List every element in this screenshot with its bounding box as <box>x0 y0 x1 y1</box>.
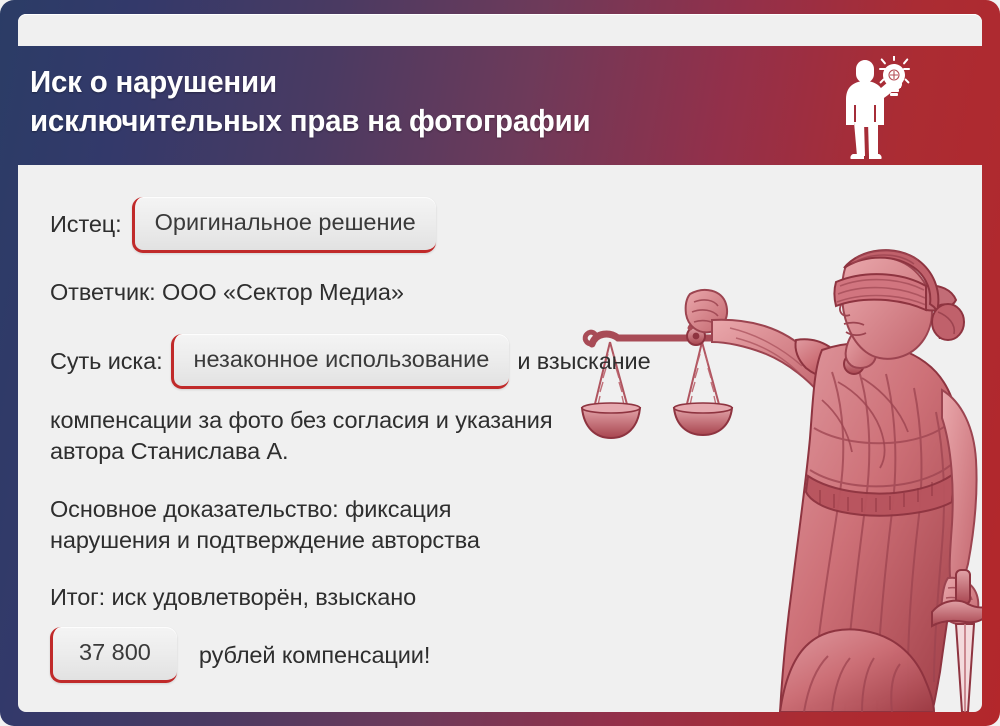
spacer <box>50 613 982 627</box>
spacer <box>50 255 982 277</box>
amount-tail: рублей компенсации! <box>199 640 430 671</box>
claim-badge[interactable]: незаконное использование <box>171 334 510 390</box>
claim-continuation: компенсации за фото без согласия и указа… <box>50 405 982 468</box>
content-panel: Истец: Оригинальное решение Ответчик: ОО… <box>18 165 982 712</box>
plaintiff-label: Истец: <box>50 209 122 240</box>
card-top-strip <box>18 14 982 46</box>
infographic-card: Иск о нарушении исключительных прав на ф… <box>0 0 1000 726</box>
spacer <box>50 312 982 334</box>
claim-tail: и взыскание <box>517 346 650 377</box>
plaintiff-row: Истец: Оригинальное решение <box>50 197 982 253</box>
evidence-line: Основное доказательство: фиксация наруше… <box>50 494 982 557</box>
case-summary: Истец: Оригинальное решение Ответчик: ОО… <box>50 197 982 685</box>
spacer <box>50 468 982 494</box>
claim-row: Суть иска: незаконное использование и вз… <box>50 334 982 390</box>
idea-lightbulb-person-icon <box>828 56 920 161</box>
amount-badge[interactable]: 37 800 <box>50 627 177 683</box>
spacer <box>50 391 982 405</box>
page-title: Иск о нарушении исключительных прав на ф… <box>30 62 590 140</box>
header-band: Иск о нарушении исключительных прав на ф… <box>0 46 1000 165</box>
amount-row: 37 800 рублей компенсации! <box>50 627 982 683</box>
claim-label: Суть иска: <box>50 346 163 377</box>
result-line: Итог: иск удовлетворён, взыскано <box>50 582 982 613</box>
spacer <box>50 556 982 582</box>
plaintiff-badge[interactable]: Оригинальное решение <box>132 197 436 253</box>
defendant-line: Ответчик: ООО «Сектор Медиа» <box>50 277 982 308</box>
